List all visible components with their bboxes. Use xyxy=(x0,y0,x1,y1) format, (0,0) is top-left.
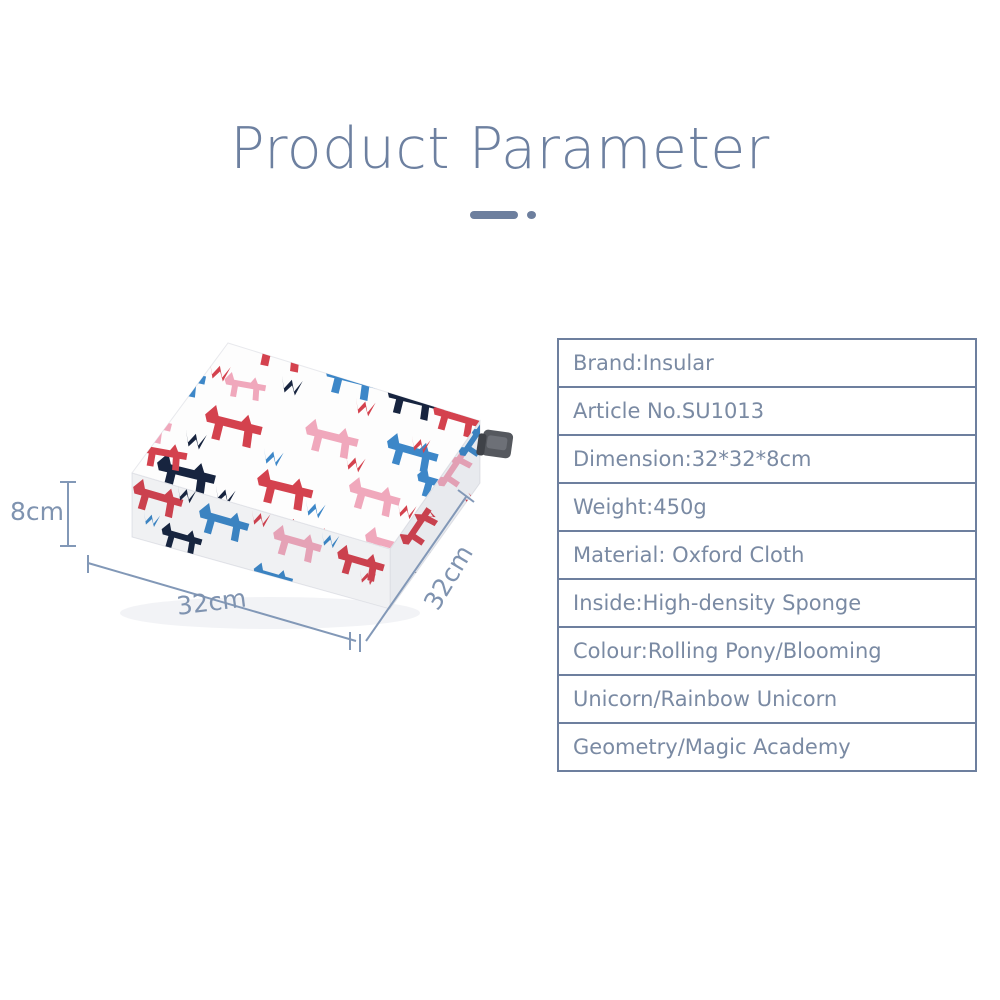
spec-row-colour-cont-2: Geometry/Magic Academy xyxy=(559,724,975,772)
title-divider xyxy=(470,209,540,221)
spec-row-colour: Colour:Rolling Pony/Blooming xyxy=(559,628,975,676)
spec-row-material: Material: Oxford Cloth xyxy=(559,532,975,580)
spec-row-weight: Weight:450g xyxy=(559,484,975,532)
product-image xyxy=(60,325,540,665)
spec-table: Brand:Insular Article No.SU1013 Dimensio… xyxy=(557,338,977,772)
spec-row-inside: Inside:High-density Sponge xyxy=(559,580,975,628)
divider-dot-icon xyxy=(527,211,536,219)
spec-row-article-no: Article No.SU1013 xyxy=(559,388,975,436)
strap-buckle-icon xyxy=(476,429,514,459)
product-parameter-page: Product Parameter xyxy=(0,0,1000,1000)
page-title: Product Parameter xyxy=(0,118,1000,181)
spec-row-brand: Brand:Insular xyxy=(559,340,975,388)
divider-bar-icon xyxy=(470,211,518,219)
spec-row-dimension: Dimension:32*32*8cm xyxy=(559,436,975,484)
spec-row-colour-cont-1: Unicorn/Rainbow Unicorn xyxy=(559,676,975,724)
dimension-height-label: 8cm xyxy=(10,497,64,526)
